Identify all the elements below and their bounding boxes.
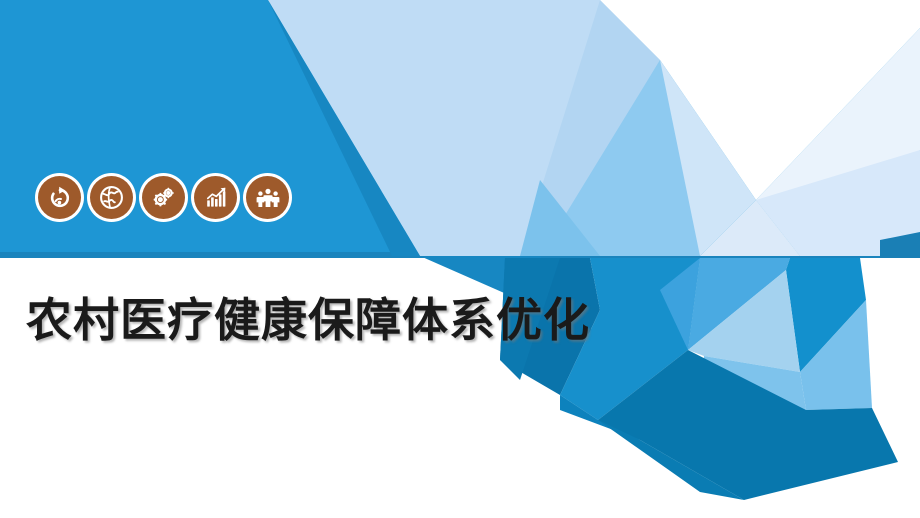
background-polygon-artwork — [0, 0, 920, 518]
page-title: 农村医疗健康保障体系优化 — [26, 294, 590, 347]
title-slide: 数智创新 变革未来 — [0, 0, 920, 518]
refresh-cycle-icon[interactable] — [38, 176, 81, 219]
people-group-icon[interactable] — [246, 176, 289, 219]
slide-tagline: 数智创新 变革未来 — [717, 28, 900, 53]
gears-icon[interactable] — [142, 176, 185, 219]
globe-icon[interactable] — [90, 176, 133, 219]
icon-strip — [38, 176, 289, 219]
bar-chart-icon[interactable] — [194, 176, 237, 219]
